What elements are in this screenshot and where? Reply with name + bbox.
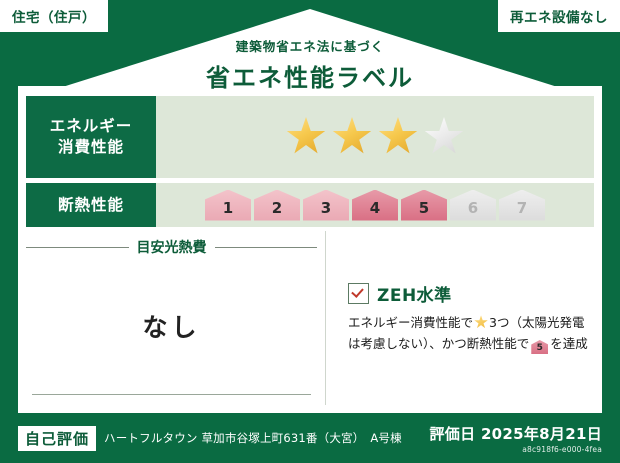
energy-performance-label: エネルギー 消費性能	[26, 96, 156, 178]
heading-rule-right	[215, 247, 318, 248]
document-hash: a8c918f6-e000-4fea	[430, 445, 603, 454]
zeh-checkbox-checked-icon	[348, 283, 369, 304]
insulation-performance-row: 断熱性能 1234567	[26, 183, 594, 227]
lower-section: 目安光熱費 なし ZEH水準 エネルギー消費性能で3つ（太陽光発電 は考慮しない…	[26, 231, 594, 405]
utility-cost-bottom-rule	[32, 394, 311, 395]
evaluation-date-label: 評価日	[430, 425, 476, 443]
zeh-block: ZEH水準 エネルギー消費性能で3つ（太陽光発電 は考慮しない）、かつ断熱性能で…	[348, 281, 588, 354]
zeh-desc-part-2: は考慮しない）、かつ断熱性能で	[348, 336, 529, 351]
star-filled-icon	[378, 117, 418, 157]
zeh-desc-part-3: を達成	[550, 336, 588, 351]
title-subtitle: 建築物省エネ法に基づく	[0, 36, 620, 55]
insulation-level-badge-7: 7	[499, 190, 545, 221]
zeh-title: ZEH水準	[377, 281, 452, 306]
star-filled-icon	[332, 117, 372, 157]
energy-performance-row: エネルギー 消費性能	[26, 96, 594, 178]
renewable-energy-tag: 再エネ設備なし	[498, 0, 620, 32]
star-empty-icon	[424, 117, 464, 157]
property-name: ハートフルタウン 草加市谷塚上町631番（大宮） A号棟	[104, 430, 402, 446]
building-type-tag: 住宅（住戸）	[0, 0, 108, 32]
zeh-description: エネルギー消費性能で3つ（太陽光発電 は考慮しない）、かつ断熱性能で5を達成	[348, 313, 588, 354]
insulation-level-badge-1: 1	[205, 190, 251, 221]
label-title-block: 建築物省エネ法に基づく 省エネ性能ラベル	[0, 36, 620, 93]
energy-performance-label: 住宅（住戸） 再エネ設備なし 建築物省エネ法に基づく 省エネ性能ラベル エネルギ…	[0, 0, 620, 463]
utility-cost-heading-text: 目安光熱費	[137, 237, 207, 257]
zeh-section: ZEH水準 エネルギー消費性能で3つ（太陽光発電 は考慮しない）、かつ断熱性能で…	[326, 231, 594, 405]
utility-cost-section: 目安光熱費 なし	[26, 231, 326, 405]
utility-cost-heading: 目安光熱費	[26, 237, 317, 257]
insulation-level-badge-5: 5	[401, 190, 447, 221]
energy-label-line-2: 消費性能	[58, 137, 124, 158]
insulation-level-scale: 1234567	[156, 183, 594, 227]
page-title: 省エネ性能ラベル	[0, 58, 620, 93]
inline-level-badge-icon: 5	[531, 340, 548, 354]
insulation-level-badge-3: 3	[303, 190, 349, 221]
star-rating	[156, 96, 594, 178]
label-content-panel: エネルギー 消費性能 断熱性能 1234567 目安光熱費 なし	[26, 96, 594, 405]
star-filled-icon	[286, 117, 326, 157]
zeh-desc-star-count: 3つ（太陽光発電	[489, 315, 584, 330]
insulation-level-badge-2: 2	[254, 190, 300, 221]
label-footer: 自己評価 ハートフルタウン 草加市谷塚上町631番（大宮） A号棟 評価日 20…	[0, 413, 620, 463]
footer-right-block: 評価日 2025年8月21日 a8c918f6-e000-4fea	[430, 423, 603, 454]
inline-star-icon	[474, 315, 488, 329]
heading-rule-left	[26, 247, 129, 248]
zeh-heading: ZEH水準	[348, 281, 588, 306]
insulation-level-badge-6: 6	[450, 190, 496, 221]
evaluation-date: 評価日 2025年8月21日	[430, 425, 603, 443]
utility-cost-value: なし	[26, 257, 317, 394]
energy-label-line-1: エネルギー	[50, 116, 133, 137]
evaluation-date-value: 2025年8月21日	[481, 425, 602, 443]
insulation-performance-label: 断熱性能	[26, 183, 156, 227]
insulation-level-badge-4: 4	[352, 190, 398, 221]
self-evaluation-badge: 自己評価	[18, 426, 96, 451]
zeh-desc-part-1: エネルギー消費性能で	[348, 315, 473, 330]
